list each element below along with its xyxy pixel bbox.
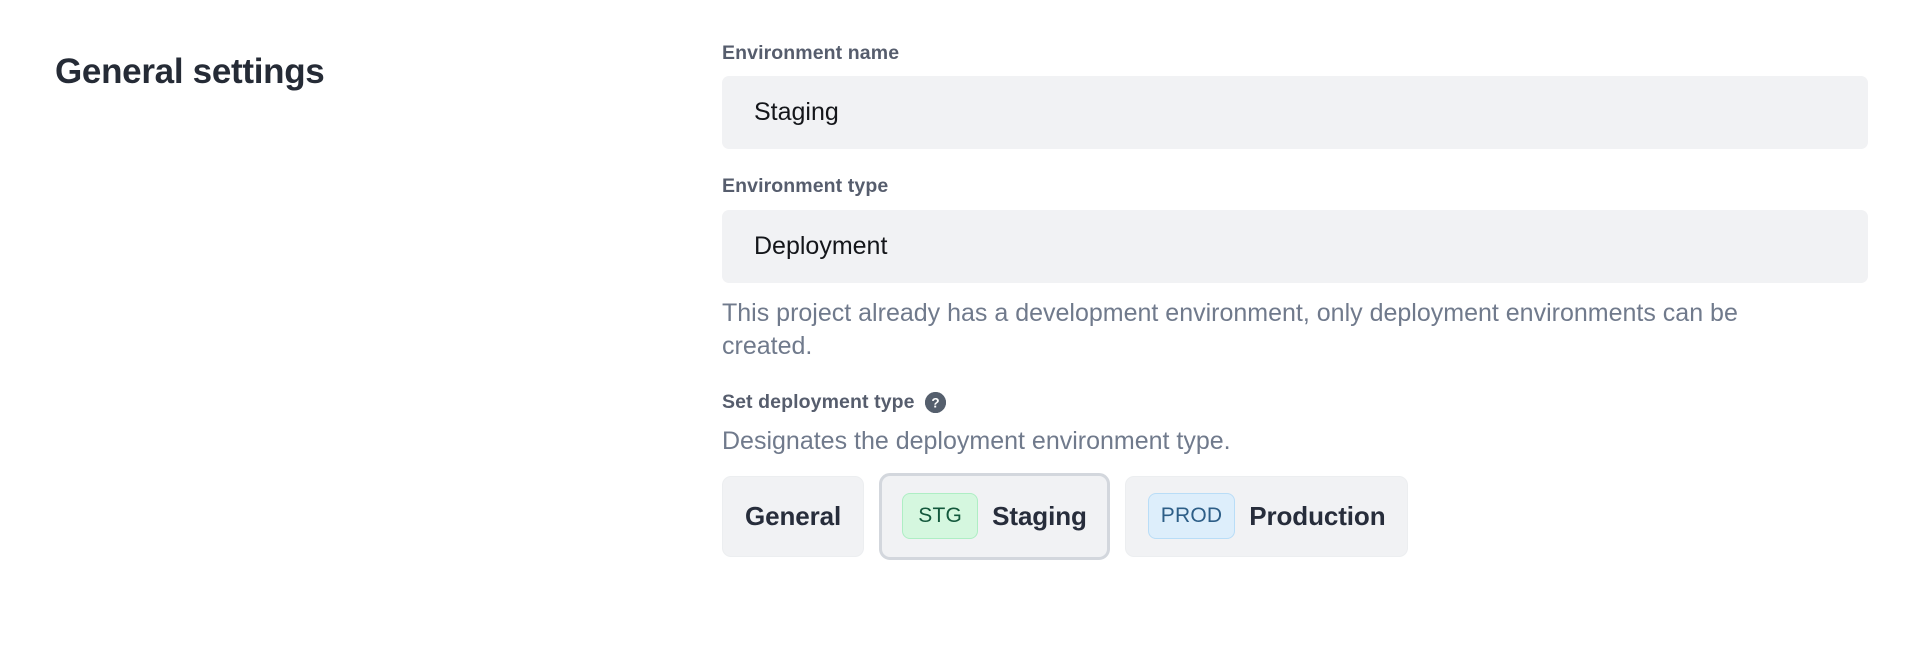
stg-badge: STG (902, 493, 978, 539)
deployment-option-general-label: General (745, 501, 841, 532)
environment-type-field-group: Environment type This project already ha… (722, 173, 1868, 363)
svg-text:?: ? (931, 395, 939, 410)
page-title: General settings (55, 51, 324, 93)
deployment-type-description: Designates the deployment environment ty… (722, 425, 1868, 458)
deployment-option-production[interactable]: PROD Production (1125, 476, 1409, 557)
environment-name-label: Environment name (722, 40, 1868, 66)
deployment-type-section: Set deployment type ? Designates the dep… (722, 389, 1868, 560)
environment-name-field-group: Environment name (722, 40, 1868, 149)
deployment-option-staging[interactable]: STG Staging (879, 473, 1110, 560)
prod-badge: PROD (1148, 493, 1235, 539)
general-settings-page: General settings Environment name Enviro… (0, 0, 1916, 652)
deployment-type-label-row: Set deployment type ? (722, 389, 1868, 415)
question-mark-icon[interactable]: ? (925, 392, 946, 413)
deployment-option-staging-label: Staging (992, 501, 1087, 532)
deployment-option-production-label: Production (1249, 501, 1385, 532)
environment-type-help-text: This project already has a development e… (722, 297, 1832, 364)
environment-type-input[interactable] (722, 210, 1868, 283)
environment-type-label: Environment type (722, 173, 1868, 199)
settings-form: Environment name Environment type This p… (722, 40, 1868, 560)
environment-name-input[interactable] (722, 76, 1868, 149)
deployment-type-label: Set deployment type (722, 389, 915, 415)
deployment-option-general[interactable]: General (722, 476, 864, 557)
deployment-type-options: General STG Staging PROD Production (722, 476, 1868, 560)
